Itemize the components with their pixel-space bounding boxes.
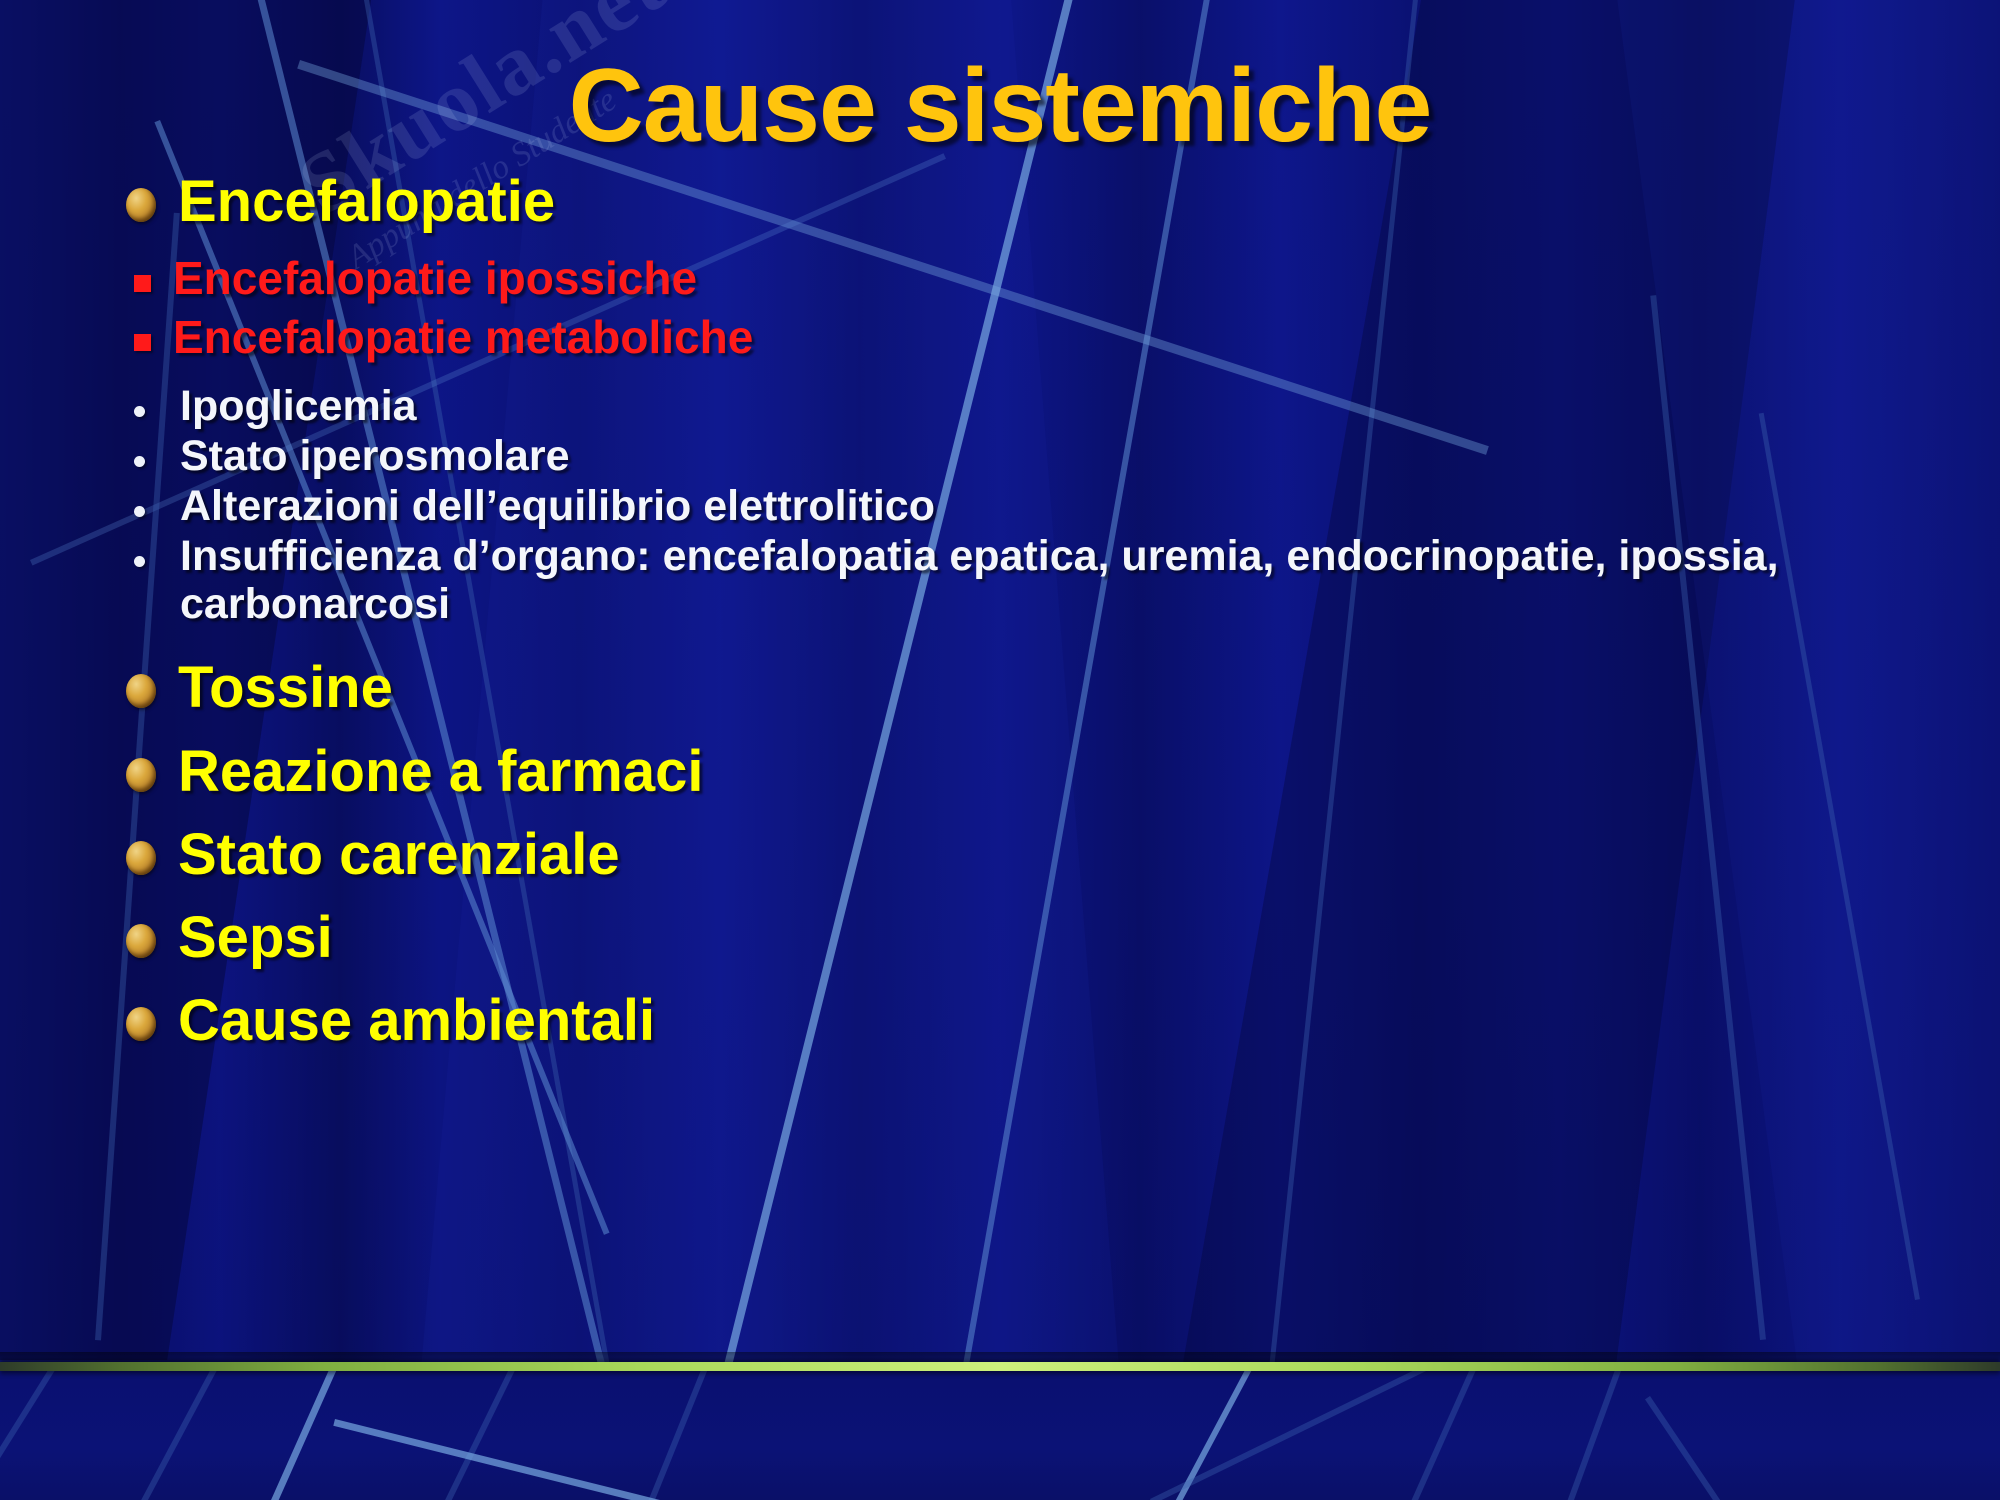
gold-sphere-bullet-icon — [126, 924, 156, 958]
gold-sphere-bullet-icon — [126, 758, 156, 792]
list-item-label: Sepsi — [156, 904, 333, 971]
list-item-label: Encefalopatie ipossiche — [151, 251, 697, 306]
list-item: Reazione a farmaci — [126, 738, 1936, 805]
footer-diagonal-line — [1560, 1371, 1702, 1500]
footer-diagonal-line — [1645, 1396, 1941, 1500]
red-square-bullet-icon — [134, 334, 151, 351]
gold-sphere-bullet-icon — [126, 188, 156, 222]
list-item: Cause ambientali — [126, 987, 1936, 1054]
list-item: Tossine — [126, 654, 1936, 721]
list-item: Encefalopatie ipossiche — [126, 251, 1936, 306]
footer-accent-rule — [0, 1362, 2000, 1371]
list-item-label: Encefalopatie — [156, 168, 555, 235]
footer-diagonal-line — [1400, 1371, 1580, 1500]
list-item: Stato carenziale — [126, 821, 1936, 888]
footer-diagonal-line — [430, 1371, 620, 1500]
list-item-label: Reazione a farmaci — [156, 738, 703, 805]
slide-body: Encefalopatie Encefalopatie ipossiche En… — [126, 168, 1936, 1057]
gold-sphere-bullet-icon — [126, 1007, 156, 1041]
white-dot-bullet-icon — [134, 556, 145, 567]
slide-title: Cause sistemiche — [0, 52, 2000, 161]
list-item-label: Encefalopatie metaboliche — [151, 310, 753, 365]
list-item-label: Ipoglicemia — [145, 382, 417, 430]
list-item-label: Stato carenziale — [156, 821, 620, 888]
gold-sphere-bullet-icon — [126, 674, 156, 708]
footer-diagonal-line — [0, 1371, 188, 1500]
list-item-label: Tossine — [156, 654, 393, 721]
list-item: Alterazioni dell’equilibrio elettrolitic… — [126, 482, 1936, 530]
presentation-slide: Skuola.net Appunti dello Studente Cause … — [0, 0, 2000, 1500]
footer-rule-shadow — [0, 1352, 2000, 1362]
list-item-label: Alterazioni dell’equilibrio elettrolitic… — [145, 482, 935, 530]
white-dot-bullet-icon — [134, 406, 145, 417]
list-item: Encefalopatie metaboliche — [126, 310, 1936, 365]
white-dot-bullet-icon — [134, 456, 145, 467]
white-dot-bullet-icon — [134, 506, 145, 517]
list-item-label: Cause ambientali — [156, 987, 655, 1054]
footer-diagonal-line — [255, 1371, 440, 1500]
footer-diagonal-line — [640, 1371, 795, 1500]
list-item: Sepsi — [126, 904, 1936, 971]
list-item-label: Stato iperosmolare — [145, 432, 570, 480]
gold-sphere-bullet-icon — [126, 841, 156, 875]
list-item: Insufficienza d’organo: encefalopatia ep… — [126, 532, 1936, 628]
footer-diagonal-line — [130, 1371, 323, 1500]
list-item: Stato iperosmolare — [126, 432, 1936, 480]
list-item: Ipoglicemia — [126, 382, 1936, 430]
list-item-label: Insufficienza d’organo: encefalopatia ep… — [145, 532, 1835, 628]
footer-band — [0, 1371, 2000, 1500]
list-item: Encefalopatie — [126, 168, 1936, 235]
red-square-bullet-icon — [134, 275, 151, 292]
